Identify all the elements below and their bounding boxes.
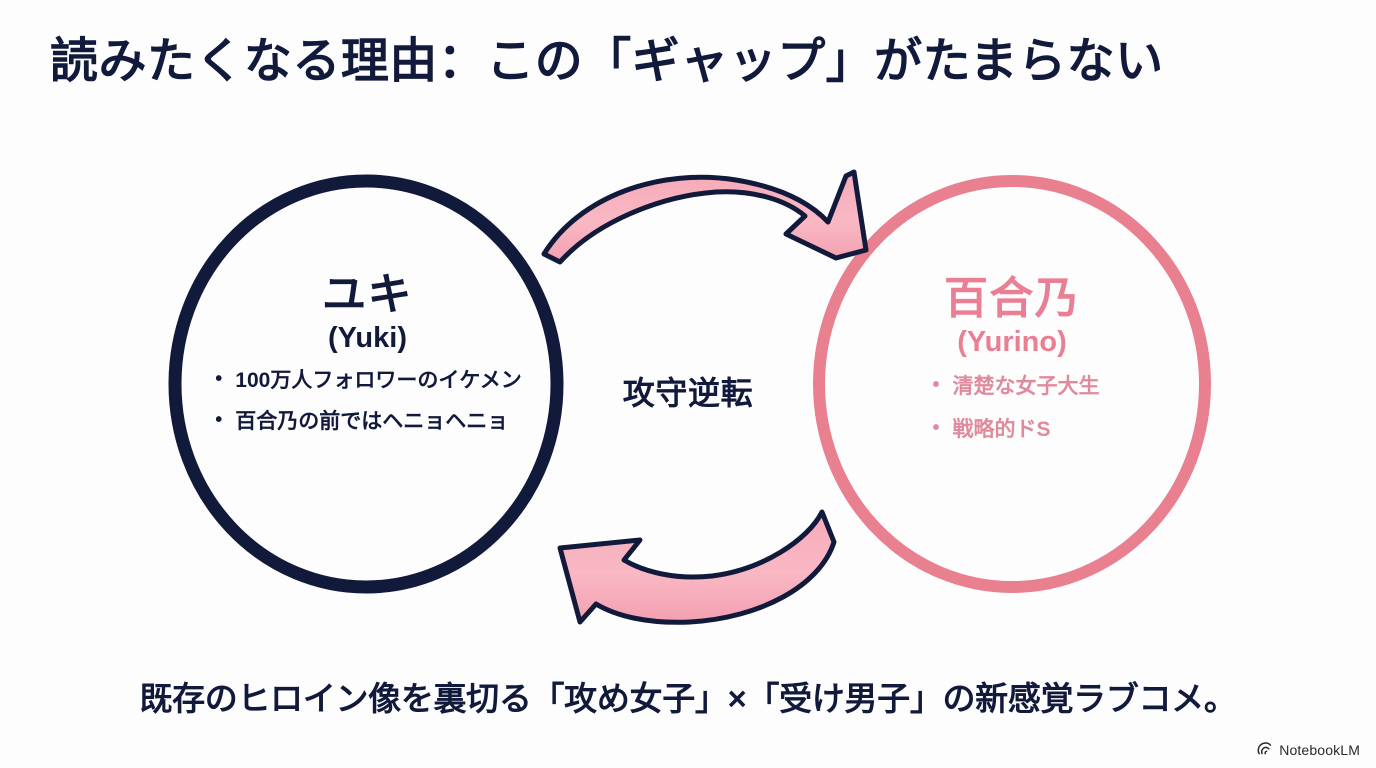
yuki-romaji: (Yuki) <box>175 320 560 356</box>
slide-canvas: 読みたくなる理由：この「ギャップ」がたまらない ユキ (Yuki) <box>0 0 1376 768</box>
yuki-text-block: ユキ (Yuki) 100万人フォロワーのイケメン 百合乃の前ではヘニョヘニョ <box>175 272 560 433</box>
notebooklm-watermark: NotebookLM <box>1257 741 1360 758</box>
list-item: 百合乃の前ではヘニョヘニョ <box>213 411 521 432</box>
notebooklm-icon <box>1257 741 1274 758</box>
yuki-bullet-list: 100万人フォロワーのイケメン 百合乃の前ではヘニョヘニョ <box>213 370 521 432</box>
yuki-name: ユキ <box>175 272 560 318</box>
list-item: 100万人フォロワーのイケメン <box>213 370 521 391</box>
bottom-caption: 既存のヒロイン像を裏切る「攻め女子」×「受け男子」の新感覚ラブコメ。 <box>0 672 1376 720</box>
bottom-arrow <box>560 512 834 622</box>
yurino-romaji: (Yurino) <box>822 324 1202 360</box>
yurino-name: 百合乃 <box>822 276 1202 322</box>
top-arrow <box>544 172 866 262</box>
yurino-text-block: 百合乃 (Yurino) 清楚な女子大生 戦略的ドS <box>822 276 1202 462</box>
notebooklm-label: NotebookLM <box>1279 742 1360 758</box>
yurino-bullet-list: 清楚な女子大生 戦略的ドS <box>925 376 1100 462</box>
list-item: 戦略的ドS <box>931 419 1100 440</box>
list-item: 清楚な女子大生 <box>931 376 1100 397</box>
center-label: 攻守逆転 <box>588 368 788 414</box>
